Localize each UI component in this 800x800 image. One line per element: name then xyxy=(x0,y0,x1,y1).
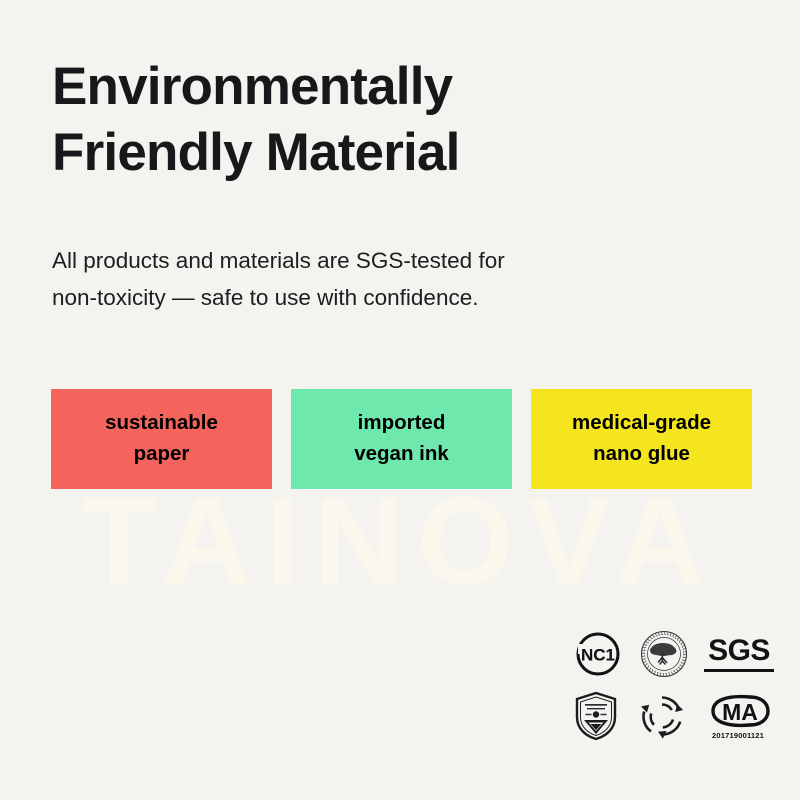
sgs-wordmark-text: SGS xyxy=(708,636,770,666)
certification-row-bottom: MA 201719001121 xyxy=(568,688,776,744)
cma-certificate-number: 201719001121 xyxy=(712,732,764,740)
material-badge-line-1: sustainable xyxy=(105,408,218,439)
page-subtitle-line-2: non-toxicity — safe to use with confiden… xyxy=(52,280,652,316)
shield-badge-icon xyxy=(568,688,624,744)
page-subtitle: All products and materials are SGS-teste… xyxy=(52,243,652,316)
nc1-circle-icon: NC1 NC1 xyxy=(570,626,626,682)
page-title-line-2: Friendly Material xyxy=(52,120,572,186)
svg-text:MA: MA xyxy=(722,699,758,725)
brand-watermark: TAINOVA xyxy=(0,480,800,604)
material-badge-line-2: nano glue xyxy=(593,439,690,470)
certification-row-top: NC1 NC1 xyxy=(568,626,776,682)
material-badge-medical-grade-nano-glue: medical-grade nano glue xyxy=(531,389,752,489)
certification-logo-group: NC1 NC1 xyxy=(568,626,776,744)
sgs-wordmark-icon: SGS xyxy=(702,636,776,672)
page-subtitle-line-1: All products and materials are SGS-teste… xyxy=(52,243,652,279)
material-badge-line-2: paper xyxy=(134,439,190,470)
sgs-underline-bar xyxy=(704,669,774,672)
svg-text:NC1: NC1 xyxy=(581,646,615,665)
material-badge-imported-vegan-ink: imported vegan ink xyxy=(291,389,512,489)
recycle-arrows-icon xyxy=(634,688,690,744)
poster-canvas: TAINOVA Environmentally Friendly Materia… xyxy=(0,0,800,800)
material-badge-sustainable-paper: sustainable paper xyxy=(51,389,272,489)
main-content: Environmentally Friendly Material All pr… xyxy=(0,54,800,316)
material-badge-line-2: vegan ink xyxy=(354,439,449,470)
cma-mark-icon: MA 201719001121 xyxy=(700,693,776,740)
material-badge-line-1: medical-grade xyxy=(572,408,711,439)
page-title-line-1: Environmentally xyxy=(52,54,572,120)
page-title: Environmentally Friendly Material xyxy=(52,54,572,185)
material-badge-group: sustainable paper imported vegan ink med… xyxy=(51,389,752,489)
material-badge-line-1: imported xyxy=(358,408,446,439)
forest-tree-seal-icon xyxy=(636,626,692,682)
